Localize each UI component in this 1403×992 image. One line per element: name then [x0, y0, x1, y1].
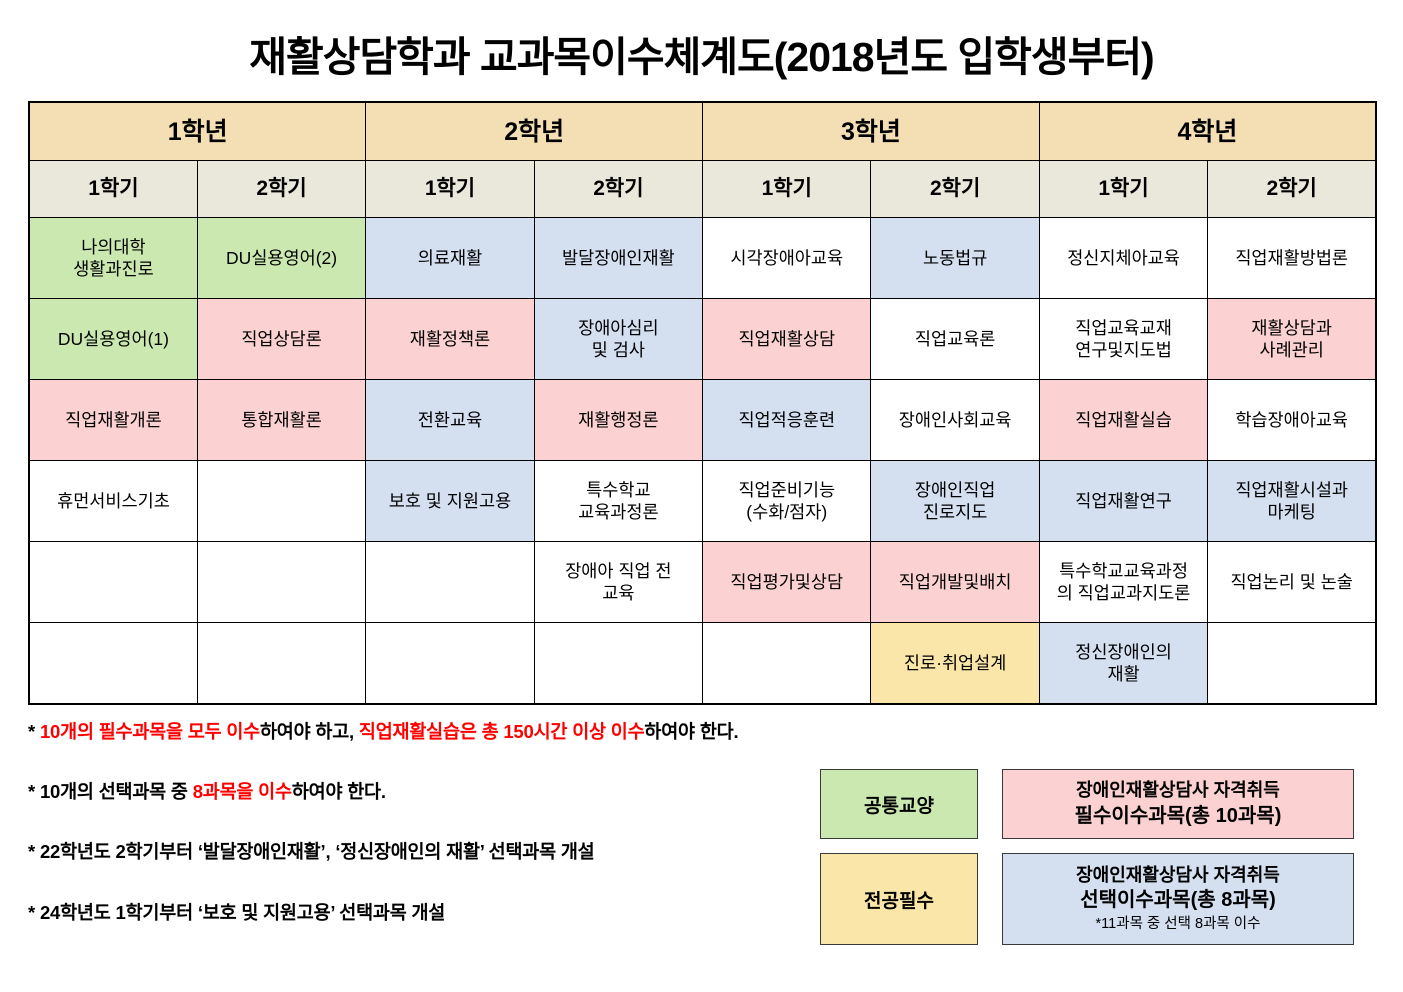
course-cell[interactable]: 특수학교교육과정론: [534, 461, 702, 542]
course-cell[interactable]: 직업재활시설과마케팅: [1208, 461, 1376, 542]
semester-header-6: 2학기: [871, 161, 1039, 218]
curriculum-table: 1학년 2학년 3학년 4학년 1학기 2학기 1학기 2학기 1학기 2학기 …: [28, 101, 1377, 705]
semester-header-row: 1학기 2학기 1학기 2학기 1학기 2학기 1학기 2학기: [29, 161, 1376, 218]
course-cell[interactable]: 통합재활론: [197, 380, 365, 461]
course-cell[interactable]: 휴먼서비스기초: [29, 461, 197, 542]
year-header-1: 1학년: [29, 102, 366, 161]
course-cell[interactable]: 직업재활개론: [29, 380, 197, 461]
empty-cell: [1208, 623, 1376, 705]
empty-cell: [197, 461, 365, 542]
course-grid-body: 나의대학생활과진로DU실용영어(2)의료재활발달장애인재활시각장애아교육노동법규…: [29, 218, 1376, 705]
curriculum-table-container: 1학년 2학년 3학년 4학년 1학기 2학기 1학기 2학기 1학기 2학기 …: [0, 101, 1403, 705]
legend-description: 장애인재활상담사 자격취득필수이수과목(총 10과목): [1002, 769, 1354, 839]
empty-cell: [366, 623, 534, 705]
course-cell[interactable]: 직업교육론: [871, 299, 1039, 380]
course-cell[interactable]: 보호 및 지원고용: [366, 461, 534, 542]
course-cell[interactable]: 의료재활: [366, 218, 534, 299]
note-segment: * 22학년도 2학기부터 ‘발달장애인재활’, ‘정신장애인의 재활’ 선택과…: [28, 841, 595, 862]
note-segment: * 10개의 선택과목 중: [28, 781, 193, 802]
notes-list: * 10개의 필수과목을 모두 이수하여야 하고, 직업재활실습은 총 150시…: [28, 721, 888, 924]
note-segment: 하여야 한다.: [644, 721, 738, 742]
empty-cell: [703, 623, 871, 705]
course-cell[interactable]: 정신장애인의재활: [1039, 623, 1207, 705]
course-cell[interactable]: 재활정책론: [366, 299, 534, 380]
semester-header-1: 1학기: [29, 161, 197, 218]
semester-header-7: 1학기: [1039, 161, 1207, 218]
note-line: * 22학년도 2학기부터 ‘발달장애인재활’, ‘정신장애인의 재활’ 선택과…: [28, 841, 888, 863]
semester-header-4: 2학기: [534, 161, 702, 218]
legend-row: 전공필수장애인재활상담사 자격취득선택이수과목(총 8과목)*11과목 중 선택…: [820, 853, 1380, 945]
course-cell[interactable]: DU실용영어(1): [29, 299, 197, 380]
legend-list: 공통교양장애인재활상담사 자격취득필수이수과목(총 10과목)전공필수장애인재활…: [820, 769, 1380, 945]
empty-cell: [29, 542, 197, 623]
course-cell[interactable]: 직업준비기능(수화/점자): [703, 461, 871, 542]
note-segment: 직업재활실습은 총 150시간 이상 이수: [359, 721, 645, 742]
course-cell[interactable]: 장애아심리및 검사: [534, 299, 702, 380]
course-cell[interactable]: 정신지체아교육: [1039, 218, 1207, 299]
semester-header-2: 2학기: [197, 161, 365, 218]
note-segment: 10개의 필수과목을 모두 이수: [40, 721, 260, 742]
legend-desc-note: *11과목 중 선택 8과목 이수: [1096, 915, 1261, 934]
course-cell[interactable]: 장애인사회교육: [871, 380, 1039, 461]
note-line: * 24학년도 1학기부터 ‘보호 및 지원고용’ 선택과목 개설: [28, 902, 888, 924]
note-segment: 하여야 한다.: [292, 781, 386, 802]
year-header-row: 1학년 2학년 3학년 4학년: [29, 102, 1376, 161]
legend-desc-line2: 필수이수과목(총 10과목): [1075, 803, 1282, 829]
course-cell[interactable]: 직업평가및상담: [703, 542, 871, 623]
course-cell[interactable]: 직업교육교재연구및지도법: [1039, 299, 1207, 380]
course-row: 나의대학생활과진로DU실용영어(2)의료재활발달장애인재활시각장애아교육노동법규…: [29, 218, 1376, 299]
course-cell[interactable]: 장애인직업진로지도: [871, 461, 1039, 542]
year-header-4: 4학년: [1039, 102, 1376, 161]
year-header-3: 3학년: [703, 102, 1040, 161]
course-row: 직업재활개론통합재활론전환교육재활행정론직업적응훈련장애인사회교육직업재활실습학…: [29, 380, 1376, 461]
course-row: 휴먼서비스기초보호 및 지원고용특수학교교육과정론직업준비기능(수화/점자)장애…: [29, 461, 1376, 542]
empty-cell: [534, 623, 702, 705]
course-cell[interactable]: 전환교육: [366, 380, 534, 461]
course-cell[interactable]: 직업재활연구: [1039, 461, 1207, 542]
course-cell[interactable]: 직업적응훈련: [703, 380, 871, 461]
course-cell[interactable]: 노동법규: [871, 218, 1039, 299]
course-cell[interactable]: 직업재활상담: [703, 299, 871, 380]
year-header-2: 2학년: [366, 102, 703, 161]
bottom-area: * 10개의 필수과목을 모두 이수하여야 하고, 직업재활실습은 총 150시…: [0, 721, 1403, 924]
course-cell[interactable]: 직업상담론: [197, 299, 365, 380]
legend-description: 장애인재활상담사 자격취득선택이수과목(총 8과목)*11과목 중 선택 8과목…: [1002, 853, 1354, 945]
course-row: DU실용영어(1)직업상담론재활정책론장애아심리및 검사직업재활상담직업교육론직…: [29, 299, 1376, 380]
legend-desc-line1: 장애인재활상담사 자격취득: [1076, 779, 1280, 802]
empty-cell: [29, 623, 197, 705]
semester-header-3: 1학기: [366, 161, 534, 218]
legend-swatch: 공통교양: [820, 769, 978, 839]
note-line: * 10개의 선택과목 중 8과목을 이수하여야 한다.: [28, 781, 888, 803]
page-title: 재활상담학과 교과목이수체계도(2018년도 입학생부터): [0, 0, 1403, 101]
course-cell[interactable]: 직업논리 및 논술: [1208, 542, 1376, 623]
course-cell[interactable]: 나의대학생활과진로: [29, 218, 197, 299]
course-cell[interactable]: 재활행정론: [534, 380, 702, 461]
course-cell[interactable]: 직업재활방법론: [1208, 218, 1376, 299]
note-segment: *: [28, 721, 40, 742]
note-segment: * 24학년도 1학기부터 ‘보호 및 지원고용’ 선택과목 개설: [28, 902, 445, 923]
course-cell[interactable]: 학습장애아교육: [1208, 380, 1376, 461]
course-row: 장애아 직업 전교육직업평가및상담직업개발및배치특수학교교육과정의 직업교과지도…: [29, 542, 1376, 623]
note-segment: 8과목을 이수: [193, 781, 292, 802]
semester-header-8: 2학기: [1208, 161, 1376, 218]
course-row: 진로·취업설계정신장애인의재활: [29, 623, 1376, 705]
table-header: 1학년 2학년 3학년 4학년 1학기 2학기 1학기 2학기 1학기 2학기 …: [29, 102, 1376, 218]
course-cell[interactable]: DU실용영어(2): [197, 218, 365, 299]
course-cell[interactable]: 직업재활실습: [1039, 380, 1207, 461]
empty-cell: [197, 542, 365, 623]
course-cell[interactable]: 진로·취업설계: [871, 623, 1039, 705]
legend-desc-line2: 선택이수과목(총 8과목): [1080, 887, 1276, 913]
empty-cell: [197, 623, 365, 705]
semester-header-5: 1학기: [703, 161, 871, 218]
course-cell[interactable]: 재활상담과사례관리: [1208, 299, 1376, 380]
course-cell[interactable]: 특수학교교육과정의 직업교과지도론: [1039, 542, 1207, 623]
course-cell[interactable]: 장애아 직업 전교육: [534, 542, 702, 623]
legend-row: 공통교양장애인재활상담사 자격취득필수이수과목(총 10과목): [820, 769, 1380, 839]
legend-swatch: 전공필수: [820, 853, 978, 945]
note-segment: 하여야 하고,: [260, 721, 359, 742]
legend-desc-line1: 장애인재활상담사 자격취득: [1076, 864, 1280, 887]
course-cell[interactable]: 시각장애아교육: [703, 218, 871, 299]
course-cell[interactable]: 발달장애인재활: [534, 218, 702, 299]
course-cell[interactable]: 직업개발및배치: [871, 542, 1039, 623]
note-line: * 10개의 필수과목을 모두 이수하여야 하고, 직업재활실습은 총 150시…: [28, 721, 888, 743]
empty-cell: [366, 542, 534, 623]
